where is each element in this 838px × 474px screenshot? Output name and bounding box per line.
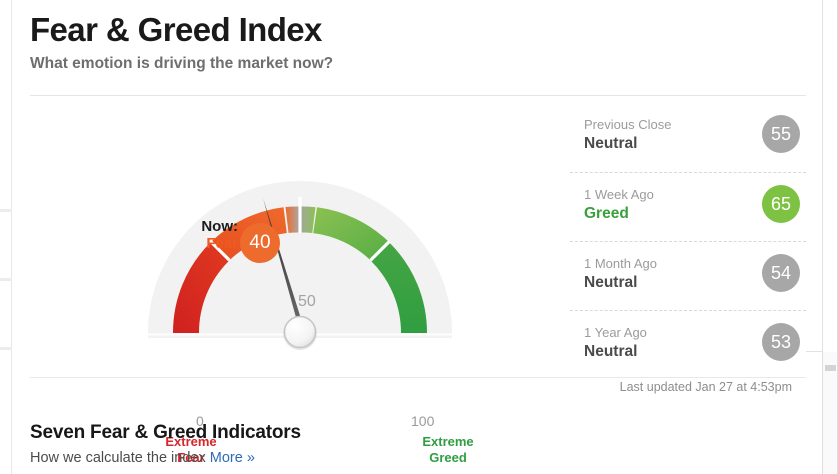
stat-text: 1 Week Ago Greed <box>584 186 654 224</box>
gauge-now-word: Now: <box>168 218 238 235</box>
edge-marker <box>0 278 12 281</box>
indicators-subtitle: How we calculate the index More » <box>30 448 790 468</box>
index-history-list: Previous Close Neutral 55 1 Week Ago Gre… <box>570 103 806 379</box>
stat-period: 1 Year Ago <box>584 324 647 341</box>
last-updated-text: Last updated Jan 27 at 4:53pm <box>620 380 792 394</box>
panel-bottom-divider <box>30 377 806 378</box>
page-header: Fear & Greed Index What emotion is drivi… <box>30 10 790 74</box>
stat-period: 1 Week Ago <box>584 186 654 203</box>
indicators-title: Seven Fear & Greed Indicators <box>30 421 790 445</box>
stat-value-badge: 65 <box>762 185 800 223</box>
list-item[interactable]: 1 Month Ago Neutral 54 <box>570 241 806 310</box>
stat-text: Previous Close Neutral <box>584 116 671 154</box>
stat-emotion: Neutral <box>584 134 671 154</box>
content-frame-corner <box>806 0 823 352</box>
list-item[interactable]: Previous Close Neutral 55 <box>570 103 806 172</box>
content-column: Fear & Greed Index What emotion is drivi… <box>12 0 806 474</box>
header-divider <box>30 95 806 96</box>
indicators-section: Seven Fear & Greed Indicators How we cal… <box>30 421 790 468</box>
stat-text: 1 Month Ago Neutral <box>584 255 657 293</box>
gauge-hub <box>285 317 316 348</box>
page-root: Fear & Greed Index What emotion is drivi… <box>0 0 838 474</box>
gauge-value-badge: 40 <box>240 223 280 263</box>
stat-text: 1 Year Ago Neutral <box>584 324 647 362</box>
gauge-now-emotion: Fear <box>168 235 238 252</box>
edge-marker <box>0 347 12 350</box>
scrollbar-thumb[interactable] <box>825 365 836 371</box>
stat-period: Previous Close <box>584 116 671 133</box>
stat-value-badge: 53 <box>762 323 800 361</box>
edge-marker <box>0 209 12 212</box>
stat-emotion: Neutral <box>584 342 647 362</box>
gauge-scale-mid-label: 50 <box>298 293 316 311</box>
stat-period: 1 Month Ago <box>584 255 657 272</box>
list-item[interactable]: 1 Year Ago Neutral 53 <box>570 310 806 379</box>
stat-emotion: Neutral <box>584 273 657 293</box>
stat-emotion: Greed <box>584 204 654 224</box>
stat-value-badge: 54 <box>762 254 800 292</box>
gauge-panel: Now: Fear 40 50 0 100 Extreme Fear Extre… <box>30 100 550 375</box>
page-right-border <box>822 0 823 474</box>
page-title: Fear & Greed Index <box>30 10 790 50</box>
more-link[interactable]: More » <box>210 450 255 466</box>
list-item[interactable]: 1 Week Ago Greed 65 <box>570 172 806 241</box>
gauge-now-label: Now: Fear <box>168 218 238 252</box>
indicators-subtitle-text: How we calculate the index <box>30 450 206 466</box>
page-subtitle: What emotion is driving the market now? <box>30 54 790 74</box>
stat-value-badge: 55 <box>762 115 800 153</box>
